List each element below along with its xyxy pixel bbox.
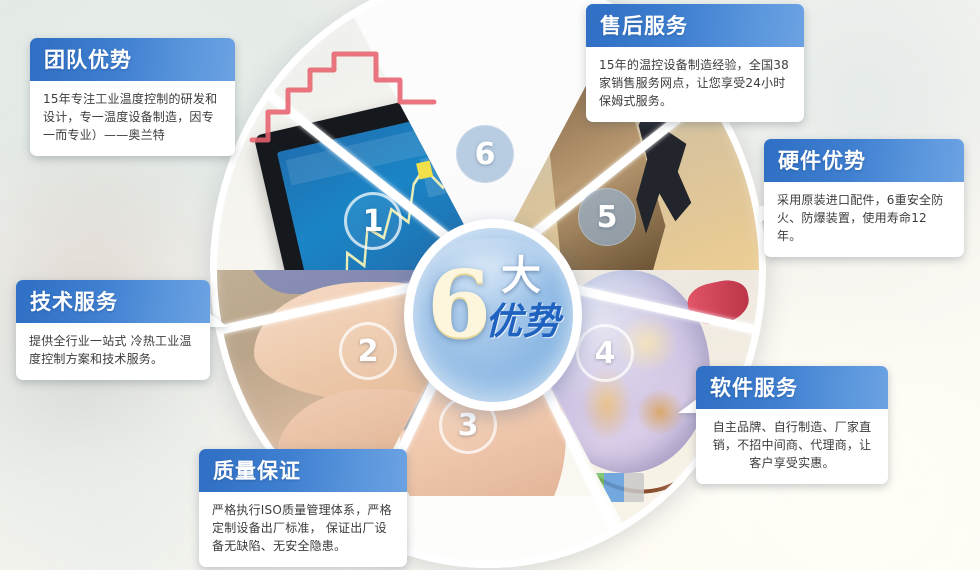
callout-team-title: 团队优势: [30, 38, 235, 81]
red-growth-line-decoration: [248, 28, 438, 148]
hub-number: 6: [427, 258, 489, 350]
poster-canvas: 6 大 优势 1 2 3 4 5 6 团队优势 15年专注工业温度控制的研发和设…: [0, 0, 980, 570]
callout-quality-title: 质量保证: [199, 449, 407, 492]
callout-quality[interactable]: 质量保证 严格执行ISO质量管理体系，严格定制设备出厂标准， 保证出厂设备无缺陷…: [199, 449, 407, 567]
badge-5-number: 5: [597, 200, 618, 235]
center-hub-inner: 6 大 优势: [413, 228, 573, 402]
badge-1-number: 1: [363, 204, 384, 239]
callout-software-tail: [678, 398, 698, 413]
callout-aftersales-body: 15年的温控设备制造经验，全国38家销售服务网点，让您享受24小时保姆式服务。: [586, 47, 804, 122]
callout-team[interactable]: 团队优势 15年专注工业温度控制的研发和设计，专一温度设备制造，因专一而专业）—…: [30, 38, 235, 156]
badge-5[interactable]: 5: [578, 188, 636, 246]
callout-software-body: 自主品牌、自行制造、厂家直销，不招中间商、代理商，让客户享受实惠。: [696, 409, 888, 484]
badge-4-number: 4: [595, 336, 616, 371]
badge-6-number: 6: [475, 137, 496, 172]
callout-hardware-title: 硬件优势: [764, 139, 964, 182]
center-hub: 6 大 优势: [404, 219, 582, 411]
callout-team-body: 15年专注工业温度控制的研发和设计，专一温度设备制造，因专一而专业）——奥兰特: [30, 81, 235, 156]
hub-advantage-label: 优势: [485, 302, 561, 342]
callout-aftersales[interactable]: 售后服务 15年的温控设备制造经验，全国38家销售服务网点，让您享受24小时保姆…: [586, 4, 804, 122]
callout-quality-body: 严格执行ISO质量管理体系，严格定制设备出厂标准， 保证出厂设备无缺陷、无安全隐…: [199, 492, 407, 567]
callout-tech-title: 技术服务: [16, 280, 210, 323]
callout-aftersales-title: 售后服务: [586, 4, 804, 47]
callout-tech-tail: [208, 312, 228, 327]
hub-big-char: 大: [501, 256, 541, 296]
callout-tech[interactable]: 技术服务 提供全行业一站式 冷热工业温度控制方案和技术服务。: [16, 280, 210, 380]
callout-software[interactable]: 软件服务 自主品牌、自行制造、厂家直销，不招中间商、代理商，让客户享受实惠。: [696, 366, 888, 484]
badge-2-number: 2: [358, 334, 379, 369]
badge-3-number: 3: [458, 408, 479, 443]
badge-1[interactable]: 1: [344, 192, 402, 250]
badge-4[interactable]: 4: [576, 324, 634, 382]
callout-hardware-body: 采用原装进口配件，6重安全防火、防爆装置，使用寿命12年。: [764, 182, 964, 257]
badge-6[interactable]: 6: [456, 125, 514, 183]
callout-hardware[interactable]: 硬件优势 采用原装进口配件，6重安全防火、防爆装置，使用寿命12年。: [764, 139, 964, 257]
center-hub-text: 6 大 优势: [413, 228, 573, 402]
callout-software-title: 软件服务: [696, 366, 888, 409]
callout-tech-body: 提供全行业一站式 冷热工业温度控制方案和技术服务。: [16, 323, 210, 380]
badge-2[interactable]: 2: [339, 322, 397, 380]
